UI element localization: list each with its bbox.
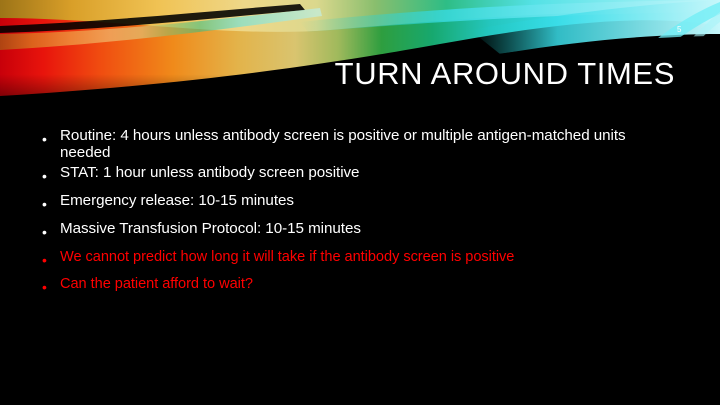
list-item-text: We cannot predict how long it will take … [60, 249, 648, 266]
list-item: • Routine: 4 hours unless antibody scree… [36, 128, 648, 161]
page-number: 5 [677, 26, 682, 34]
list-item: • We cannot predict how long it will tak… [36, 249, 648, 271]
bullet-marker-icon: • [36, 128, 60, 150]
list-item: • STAT: 1 hour unless antibody screen po… [36, 165, 648, 187]
bullet-marker-icon: • [36, 193, 60, 215]
presentation-slide: 5 Turn Around Times • Routine: 4 hours u… [0, 0, 720, 405]
list-item: • Can the patient afford to wait? [36, 276, 648, 298]
list-item-text: Can the patient afford to wait? [60, 276, 648, 293]
bullet-marker-icon: • [36, 165, 60, 187]
bullet-list: • Routine: 4 hours unless antibody scree… [36, 128, 648, 303]
list-item-text: Routine: 4 hours unless antibody screen … [60, 128, 648, 161]
list-item: • Massive Transfusion Protocol: 10-15 mi… [36, 221, 648, 243]
list-item-text: Massive Transfusion Protocol: 10-15 minu… [60, 221, 648, 238]
list-item-text: Emergency release: 10-15 minutes [60, 193, 648, 210]
list-item-text: STAT: 1 hour unless antibody screen posi… [60, 165, 648, 182]
bullet-marker-icon: • [36, 276, 60, 298]
bullet-marker-icon: • [36, 249, 60, 271]
list-item: • Emergency release: 10-15 minutes [36, 193, 648, 215]
bullet-marker-icon: • [36, 221, 60, 243]
page-title: Turn Around Times [260, 57, 675, 92]
